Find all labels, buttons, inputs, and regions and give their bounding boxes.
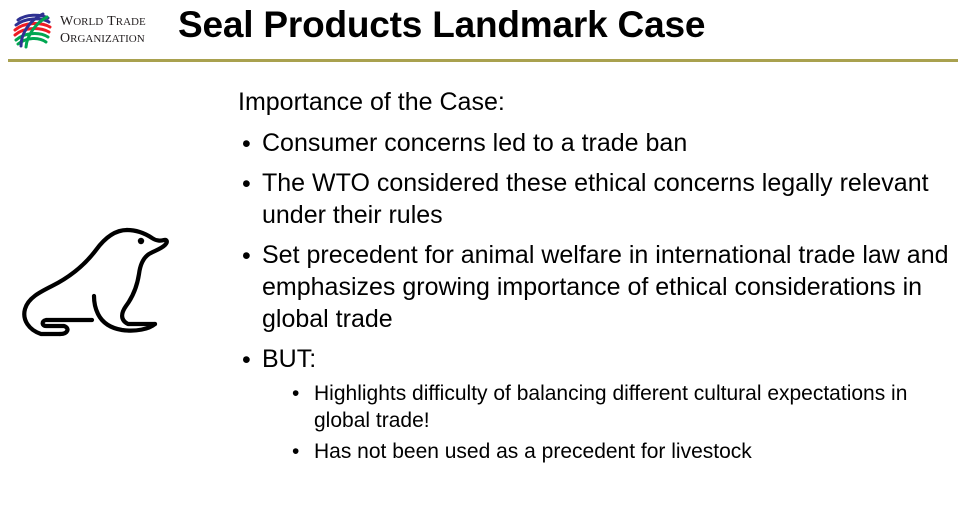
slide-header: WORLD TRADE ORGANIZATION Seal Products L…: [0, 0, 966, 58]
wto-globe-icon: [12, 11, 54, 49]
bullet-glyph-icon: •: [242, 168, 251, 200]
wto-logo: WORLD TRADE ORGANIZATION: [12, 11, 158, 49]
sub-bullet-item-2: • Has not been used as a precedent for l…: [288, 438, 960, 465]
bullet-text: Set precedent for animal welfare in inte…: [262, 241, 949, 333]
bullet-glyph-icon: •: [292, 380, 299, 407]
sub-bullet-text: Has not been used as a precedent for liv…: [314, 440, 752, 463]
bullet-item-1: • Consumer concerns led to a trade ban: [238, 127, 960, 159]
bullet-list-level2: • Highlights difficulty of balancing dif…: [262, 380, 960, 465]
wto-wordmark: WORLD TRADE ORGANIZATION: [60, 13, 146, 47]
bullet-item-4: • BUT: • Highlights difficulty of balanc…: [238, 343, 960, 465]
bullet-text: The WTO considered these ethical concern…: [262, 169, 929, 229]
slide-body: Importance of the Case: • Consumer conce…: [238, 86, 960, 473]
wto-wordmark-line1: WORLD TRADE: [60, 13, 146, 30]
header-divider-rule: [8, 59, 958, 62]
bullet-glyph-icon: •: [242, 344, 251, 376]
bullet-text: Consumer concerns led to a trade ban: [262, 129, 687, 157]
seal-illustration-icon: [16, 208, 191, 358]
page-title: Seal Products Landmark Case: [178, 4, 705, 46]
intro-heading: Importance of the Case:: [238, 86, 960, 118]
bullet-item-2: • The WTO considered these ethical conce…: [238, 167, 960, 231]
bullet-glyph-icon: •: [242, 128, 251, 160]
bullet-glyph-icon: •: [242, 240, 251, 272]
bullet-list-level1: • Consumer concerns led to a trade ban •…: [238, 127, 960, 465]
sub-bullet-text: Highlights difficulty of balancing diffe…: [314, 382, 907, 432]
seal-eye-icon: [138, 238, 144, 244]
sub-bullet-item-1: • Highlights difficulty of balancing dif…: [288, 380, 960, 434]
bullet-item-3: • Set precedent for animal welfare in in…: [238, 239, 960, 335]
wto-wordmark-line2: ORGANIZATION: [60, 30, 146, 47]
bullet-glyph-icon: •: [292, 438, 299, 465]
bullet-text: BUT:: [262, 345, 316, 373]
